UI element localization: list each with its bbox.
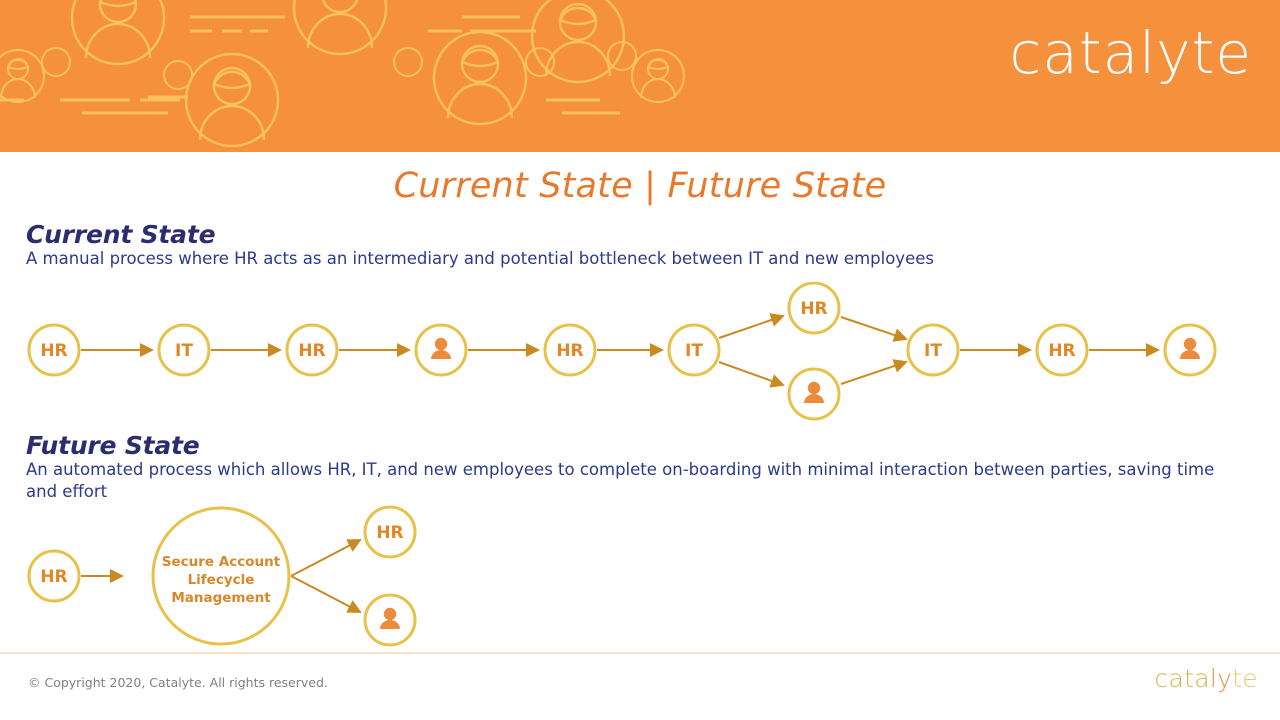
node-label: HR xyxy=(1048,341,1075,361)
future-node-hr-output: HR xyxy=(365,507,415,557)
flow-node-hr-1: HR xyxy=(29,325,79,375)
footer-catalyte-logo: catalyte xyxy=(1154,666,1258,691)
header-band: catalyte xyxy=(0,0,1280,152)
big-node-label-line-2: Lifecycle xyxy=(188,572,255,588)
future-state-heading: Future State xyxy=(26,431,200,460)
node-label: HR xyxy=(376,523,403,543)
node-label: IT xyxy=(924,341,942,361)
big-node-label-line-1: Secure Account xyxy=(162,554,281,570)
future-node-secure-account-lifecycle-management: Secure Account Lifecycle Management xyxy=(153,508,289,644)
node-label: HR xyxy=(40,567,67,587)
footer-logo-segment-2: ly xyxy=(1210,664,1232,693)
big-node-label-line-3: Management xyxy=(171,590,271,606)
node-label: HR xyxy=(298,341,325,361)
flow-node-it-3: IT xyxy=(908,325,958,375)
footer-logo-segment-3: te xyxy=(1232,664,1258,693)
node-label: IT xyxy=(175,341,193,361)
current-state-heading: Current State xyxy=(26,220,215,249)
node-label: IT xyxy=(685,341,703,361)
future-state-flow-diagram: HR Secure Account Lifecycle Management H… xyxy=(0,500,1280,652)
catalyte-logo: catalyte xyxy=(1009,24,1252,82)
current-state-description: A manual process where HR acts as an int… xyxy=(26,248,1256,270)
page-title: Current State | Future State xyxy=(0,166,1280,206)
node-label: HR xyxy=(556,341,583,361)
flow-node-it-1: IT xyxy=(159,325,209,375)
future-state-description: An automated process which allows HR, IT… xyxy=(26,459,1236,503)
flow-node-employee-2 xyxy=(1165,325,1215,375)
footer-logo-segment-1: cata xyxy=(1154,664,1209,693)
flow-node-hr-4: HR xyxy=(1037,325,1087,375)
node-label: HR xyxy=(40,341,67,361)
flow-node-employee-branch xyxy=(789,369,839,419)
flow-node-hr-3: HR xyxy=(545,325,595,375)
flow-node-employee-1 xyxy=(416,325,466,375)
flow-node-hr-branch: HR xyxy=(789,283,839,333)
future-node-hr-input: HR xyxy=(29,551,79,601)
copyright-text: © Copyright 2020, Catalyte. All rights r… xyxy=(28,675,328,690)
flow-edges xyxy=(81,316,1158,385)
flow-node-hr-2: HR xyxy=(287,325,337,375)
flow-node-it-2: IT xyxy=(669,325,719,375)
footer-divider xyxy=(0,652,1280,654)
future-node-employee-output xyxy=(365,595,415,645)
current-state-flow-diagram: HR IT HR HR IT HR IT HR xyxy=(0,282,1280,422)
node-label: HR xyxy=(800,299,827,319)
